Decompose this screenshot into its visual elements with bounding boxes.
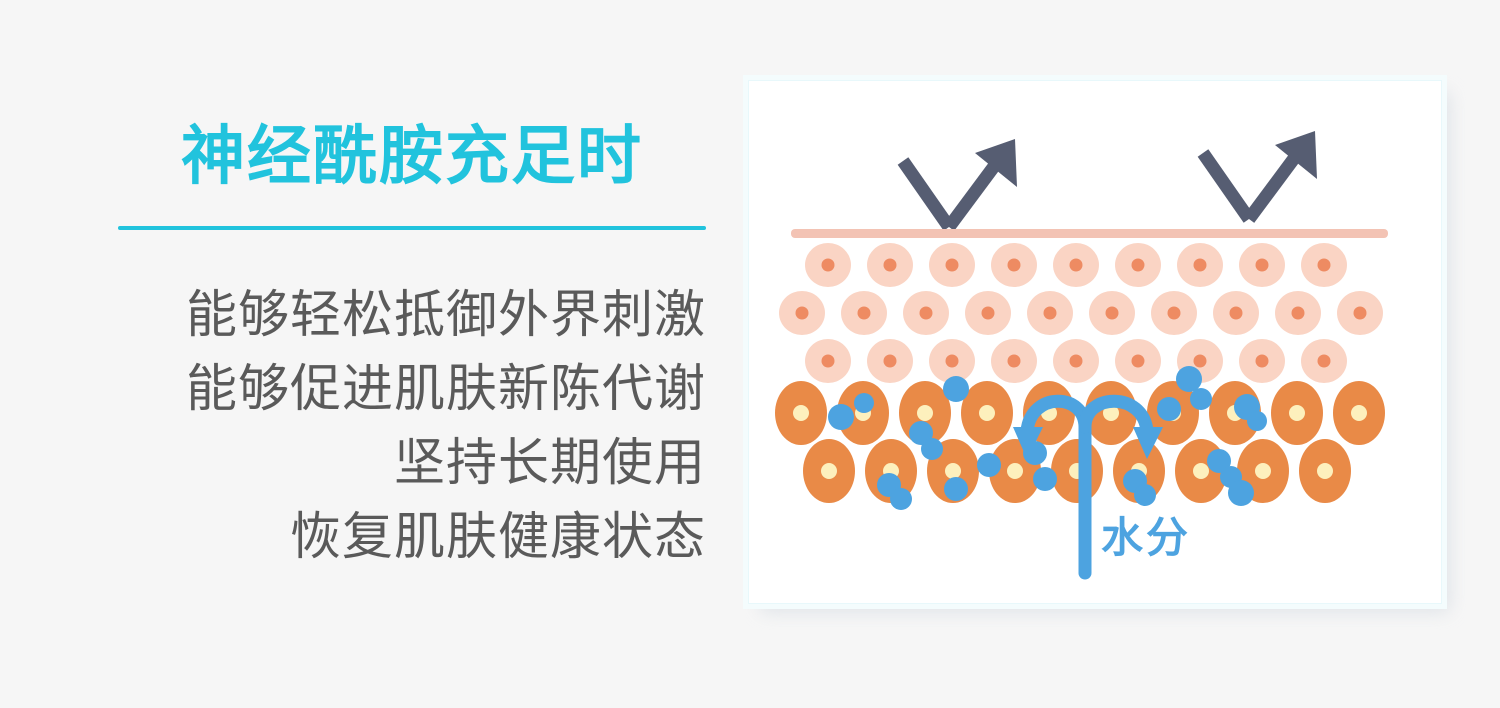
cell-nucleus [946,355,959,368]
skin-diagram-panel: 水分 [748,80,1442,604]
cell-nucleus [1194,355,1207,368]
body-line-2: 能够促进肌肤新陈代谢 [96,352,706,426]
cell-nucleus [796,307,809,320]
cell-nucleus [821,463,837,479]
cell-nucleus [920,307,933,320]
moisture-dot [1247,411,1267,431]
diagram-stage: 水分 [749,81,1441,603]
cell-nucleus [1318,259,1331,272]
page-title: 神经酰胺充足时 [118,123,706,190]
skin-cell-pink [991,243,1037,287]
skin-cell-pink [1213,291,1259,335]
cell-nucleus [1132,259,1145,272]
moisture-dot [854,393,874,413]
skin-cell-pink [841,291,887,335]
moisture-dot [944,477,968,501]
skin-cell-pink [1027,291,1073,335]
cell-nucleus [1317,463,1333,479]
moisture-dot [828,404,854,430]
cell-nucleus [1044,307,1057,320]
cell-nucleus [1289,405,1305,421]
cell-nucleus [858,307,871,320]
body-line-3: 坚持长期使用 [96,426,706,500]
cell-nucleus [1318,355,1331,368]
skin-cell-pink [867,339,913,383]
skin-cell-pink [779,291,825,335]
skin-cell-pink [903,291,949,335]
cell-nucleus [1354,307,1367,320]
cell-nucleus [1008,259,1021,272]
skin-cell-pink [1089,291,1135,335]
skin-cell-orange [775,381,827,445]
skin-cell-orange [1299,439,1351,503]
moisture-label: 水分 [1101,504,1191,565]
cell-nucleus [1292,307,1305,320]
skin-cell-orange [803,439,855,503]
cell-nucleus [1351,405,1367,421]
cell-nucleus [979,405,995,421]
skin-cell-pink [1301,243,1347,287]
cell-nucleus [1070,259,1083,272]
cell-nucleus [884,259,897,272]
skin-cell-pink [1239,339,1285,383]
body-line-4: 恢复肌肤健康状态 [96,500,706,574]
skin-cell-pink [1177,243,1223,287]
skin-cell-pink [1053,243,1099,287]
cell-nucleus [1070,355,1083,368]
bounce-arrow-left [897,139,1027,239]
skin-cell-pink [805,243,851,287]
cell-nucleus [1256,259,1269,272]
cell-nucleus [917,405,933,421]
skin-cell-pink [1239,243,1285,287]
cell-nucleus [1168,307,1181,320]
cell-nucleus [982,307,995,320]
skin-cell-pink [965,291,1011,335]
cell-nucleus [793,405,809,421]
cell-nucleus [1230,307,1243,320]
skin-cell-pink [805,339,851,383]
cell-nucleus [1106,307,1119,320]
body-line-1: 能够轻松抵御外界刺激 [96,278,706,352]
cell-nucleus [1194,259,1207,272]
cell-nucleus [1256,355,1269,368]
skin-cell-orange [1333,381,1385,445]
title-divider [118,226,706,230]
skin-cell-pink [1337,291,1383,335]
skin-cell-pink [867,243,913,287]
cell-nucleus [822,355,835,368]
text-column: 神经酰胺充足时 能够轻松抵御外界刺激 能够促进肌肤新陈代谢 坚持长期使用 恢复肌… [0,0,730,708]
body-text-block: 能够轻松抵御外界刺激 能够促进肌肤新陈代谢 坚持长期使用 恢复肌肤健康状态 [96,278,706,574]
bounce-arrow-right [1197,131,1327,231]
cell-nucleus [946,259,959,272]
moisture-dot [943,376,969,402]
skin-cell-pink [1275,291,1321,335]
skin-surface-line [791,229,1388,238]
moisture-dot [1228,480,1254,506]
cell-nucleus [822,259,835,272]
cell-nucleus [1132,355,1145,368]
skin-cell-pink [1301,339,1347,383]
skin-cell-pink [1151,291,1197,335]
cell-nucleus [1008,355,1021,368]
cell-nucleus [884,355,897,368]
skin-cell-orange [1271,381,1323,445]
cell-nucleus [1255,463,1271,479]
skin-cell-pink [929,243,975,287]
moisture-dot [921,438,943,460]
moisture-dot [890,488,912,510]
skin-cell-pink [1115,243,1161,287]
